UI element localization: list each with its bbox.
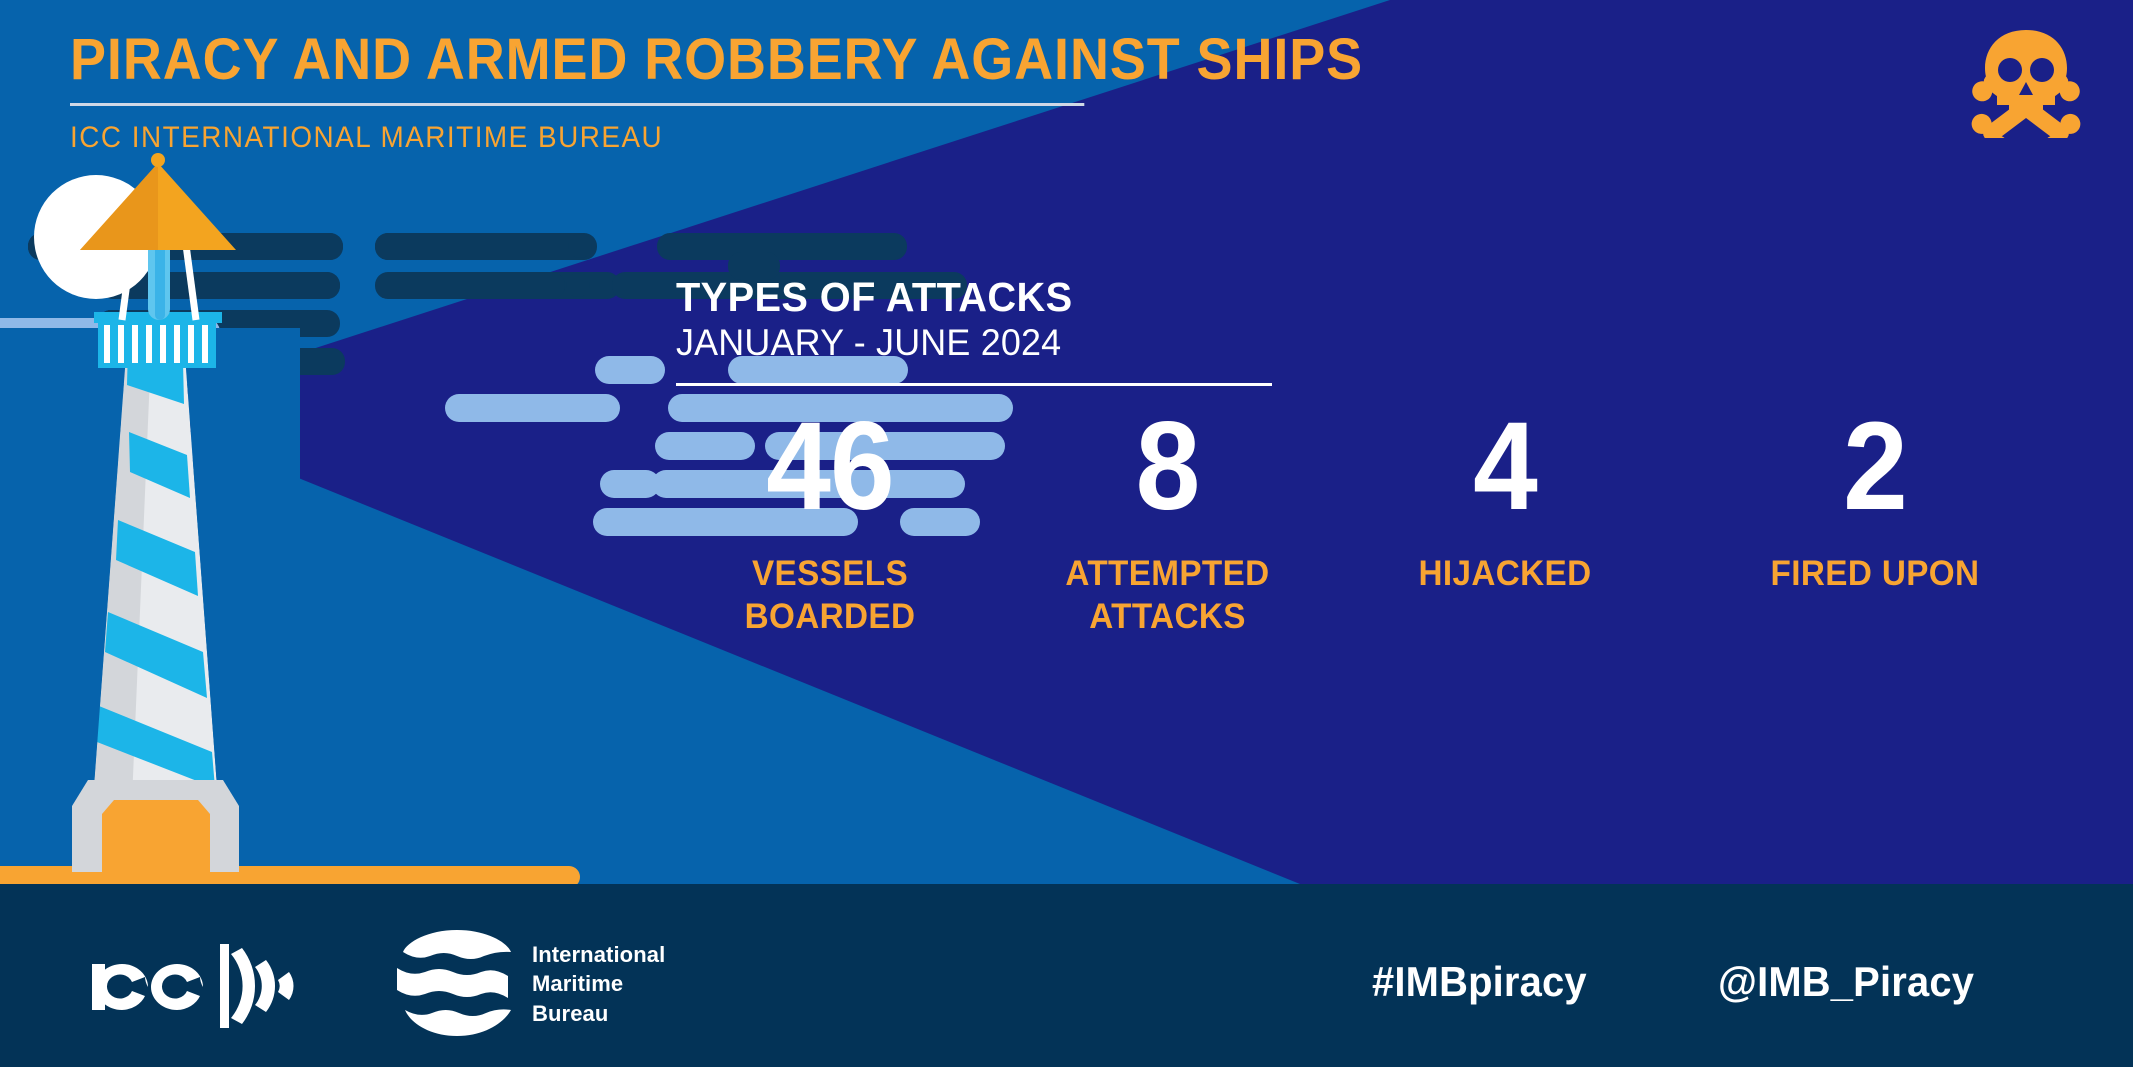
page-title: PIRACY AND ARMED ROBBERY AGAINST SHIPS [70,30,1372,90]
beam-clouds [600,470,660,498]
poster-header: PIRACY AND ARMED ROBBERY AGAINST SHIPS I… [70,30,1470,155]
stat-value: 2 [1689,404,2061,529]
skull-and-crossbones-icon [1971,20,2081,138]
statistics-row: 46 VESSELS BOARDED 8 ATTEMPTED ATTACKS 4… [660,404,2080,638]
gallery-rail [98,320,216,368]
stat-label: ATTEMPTED ATTACKS [1008,553,1326,638]
stat-vessels-boarded: 46 VESSELS BOARDED [660,404,1000,638]
imb-waves-logo [395,928,520,1038]
title-divider [70,103,1084,106]
stat-label: FIRED UPON [1685,553,2065,596]
stat-label: VESSELS BOARDED [669,553,992,638]
icc-logo [90,938,320,1034]
left-mask [0,328,93,810]
stats-panel-header: TYPES OF ATTACKS JANUARY - JUNE 2024 [676,276,1996,386]
panel-divider [676,383,1272,386]
stat-label: HIJACKED [1344,553,1667,596]
door [102,800,210,872]
stat-attempted-attacks: 8 ATTEMPTED ATTACKS [1000,404,1335,638]
stat-hijacked: 4 HIJACKED [1335,404,1675,596]
infographic-poster: PIRACY AND ARMED ROBBERY AGAINST SHIPS I… [0,0,2133,1067]
panel-period: JANUARY - JUNE 2024 [676,322,1956,363]
imb-logo-text: International Maritime Bureau [532,940,665,1028]
social-handle-label[interactable]: @IMB_Piracy [1718,958,1974,1006]
stat-value: 4 [1347,404,1663,529]
hashtag-label[interactable]: #IMBpiracy [1372,958,1587,1006]
organisation-subtitle: ICC INTERNATIONAL MARITIME BUREAU [70,121,1372,155]
stat-fired-upon: 2 FIRED UPON [1675,404,2075,596]
stat-value: 46 [672,404,988,529]
stat-value: 8 [1012,404,1324,529]
right-mask [218,328,300,810]
panel-heading: TYPES OF ATTACKS [676,276,1956,320]
